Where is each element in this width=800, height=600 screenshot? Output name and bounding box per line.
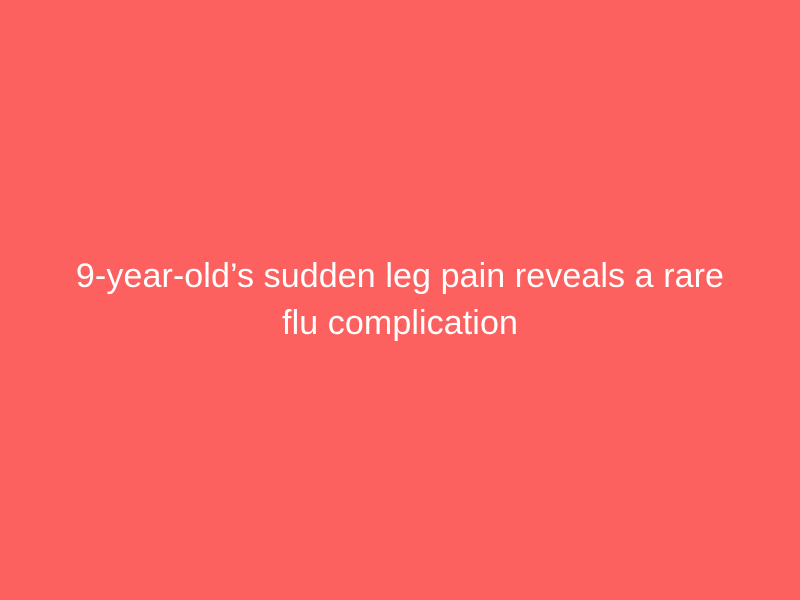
headline-block: 9-year-old’s sudden leg pain reveals a r… (70, 253, 730, 347)
share-card: 9-year-old’s sudden leg pain reveals a r… (0, 0, 800, 600)
page-title: 9-year-old’s sudden leg pain reveals a r… (70, 253, 730, 347)
